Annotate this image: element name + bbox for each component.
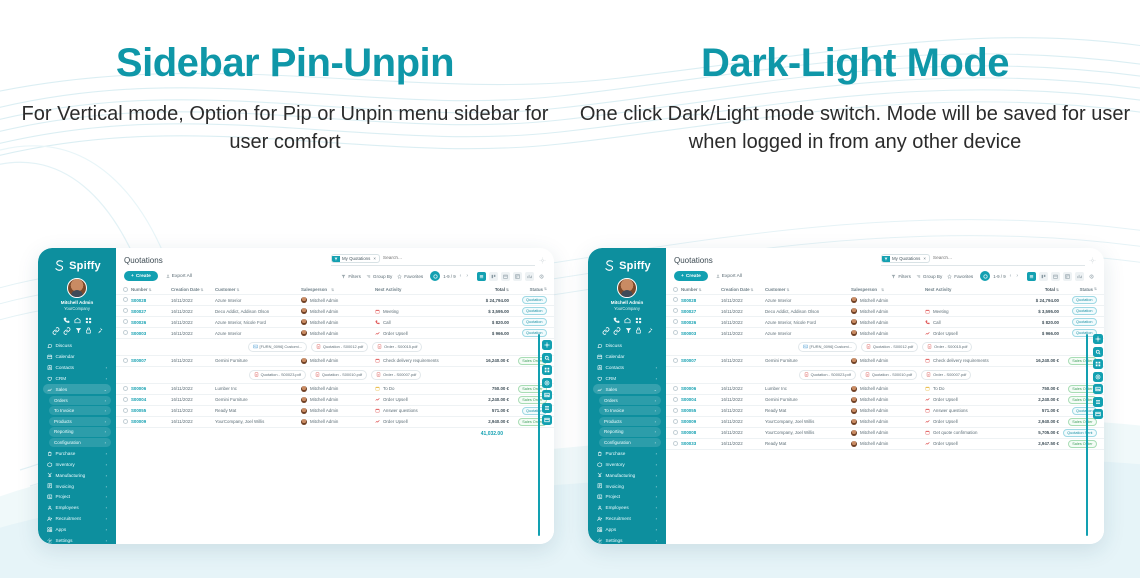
table-row[interactable]: S00003 16/11/2022 Azure Interior Mitchel… <box>666 328 1104 339</box>
table-row[interactable]: S00026 16/11/2022 Azure Interior, Nicole… <box>116 317 554 328</box>
cell-number[interactable]: S00003 <box>681 331 721 336</box>
cell-number[interactable]: S00028 <box>131 298 171 303</box>
sidebar-item-project[interactable]: Project › <box>43 492 111 502</box>
table-row[interactable]: S00026 16/11/2022 Azure Interior, Nicole… <box>666 317 1104 328</box>
image-icon[interactable] <box>542 390 552 400</box>
phone-icon[interactable] <box>613 317 620 324</box>
cell-total: 2,940.00 € <box>457 419 509 424</box>
sidebar-subitem-orders[interactable]: Orders › <box>49 396 111 405</box>
cell-salesperson: Mitchell Admin <box>851 430 925 436</box>
card-icon[interactable] <box>542 415 552 425</box>
cell-number[interactable]: S00007 <box>681 358 721 363</box>
group-by-button[interactable]: Group By <box>366 274 392 279</box>
table-row[interactable]: S00006 16/11/2022 Lumber Inc Mitchell Ad… <box>116 384 554 395</box>
pager-next-button[interactable]: › <box>465 273 469 279</box>
pdf-icon <box>377 344 382 349</box>
chevron-right-icon: › <box>656 538 657 543</box>
status-badge: Sales Order <box>1059 418 1097 426</box>
export-all-label: Export All <box>722 274 742 279</box>
sidebar-item-settings[interactable]: Settings › <box>593 535 661 544</box>
card-icon[interactable] <box>1093 409 1103 419</box>
cell-number[interactable]: S00055 <box>131 408 171 413</box>
table-row[interactable]: S00004 16/11/2022 Gemini Furniture Mitch… <box>116 395 554 406</box>
cell-creation-date: 16/11/2022 <box>171 309 215 314</box>
row-checkbox[interactable] <box>123 358 131 364</box>
table-row[interactable]: S00007 16/11/2022 Gemini Furniture Mitch… <box>116 356 554 367</box>
attachment-chip[interactable]: [FURN_0096] Customi... <box>798 342 857 352</box>
avatar <box>301 308 307 314</box>
sidebar-item-employees[interactable]: Employees › <box>593 503 661 513</box>
group-by-icon <box>366 274 371 279</box>
meeting-icon <box>925 309 930 314</box>
sidebar-item-manufacturing[interactable]: Manufacturing › <box>43 470 111 480</box>
cell-next-activity: Order Upsell <box>375 397 457 402</box>
cell-salesperson: Mitchell Admin <box>301 358 375 364</box>
group-by-button[interactable]: Group By <box>916 274 942 279</box>
search-icon[interactable] <box>1093 347 1103 357</box>
cell-number[interactable]: S00004 <box>681 397 721 402</box>
sidebar-item-settings[interactable]: Settings › <box>43 535 111 544</box>
settings-gear-icon[interactable] <box>542 340 552 350</box>
inventory-icon <box>597 462 603 468</box>
cell-number[interactable]: S00003 <box>131 331 171 336</box>
search-input[interactable] <box>933 256 1085 261</box>
export-all-button[interactable]: Export All <box>712 271 746 281</box>
confirm-icon <box>925 430 930 435</box>
table-row[interactable]: S00033 16/11/2022 Ready Mat Mitchell Adm… <box>666 439 1104 450</box>
column-header-creation-date: Creation Date⇅ <box>171 287 215 292</box>
sidebar-item-invoicing[interactable]: Invoicing › <box>593 481 661 491</box>
lock-icon[interactable] <box>635 327 642 334</box>
row-checkbox[interactable] <box>123 419 131 425</box>
avatar <box>851 308 857 314</box>
search-facet-label: My Quotations <box>340 255 373 262</box>
row-checkbox[interactable] <box>123 297 131 303</box>
cell-next-activity: Order Upsell <box>375 419 457 424</box>
sidebar-item-label: Discuss <box>606 343 655 348</box>
attachment-chip[interactable]: Order - S00007.pdf <box>921 370 971 380</box>
sidebar-item-project[interactable]: Project › <box>593 492 661 502</box>
cell-creation-date: 16/11/2022 <box>171 397 215 402</box>
sidebar-item-purchase[interactable]: Purchase › <box>43 448 111 458</box>
gear-icon[interactable] <box>539 257 546 264</box>
lock-icon[interactable] <box>85 327 92 334</box>
grid-icon[interactable] <box>635 317 642 324</box>
avatar <box>851 319 857 325</box>
chevron-right-icon: › <box>106 516 107 521</box>
sidebar-item-label: CRM <box>606 376 653 381</box>
cell-total: 2,240.00 € <box>1007 397 1059 402</box>
cell-number[interactable]: S00027 <box>681 309 721 314</box>
check-icon <box>925 358 930 363</box>
table-row[interactable]: S00006 16/11/2022 Lumber Inc Mitchell Ad… <box>666 384 1104 395</box>
sidebar-subitem-configuration[interactable]: Configuration › <box>49 438 111 447</box>
table-row[interactable]: S00027 16/11/2022 Deco Addict, Addison O… <box>116 306 554 317</box>
sidebar-item-crm[interactable]: CRM › <box>43 373 111 383</box>
avatar <box>301 408 307 414</box>
cell-number[interactable]: S00026 <box>131 320 171 325</box>
chevron-right-icon: › <box>656 462 657 467</box>
layout-grid-icon[interactable] <box>1093 359 1103 369</box>
row-checkbox[interactable] <box>123 408 131 414</box>
project-icon <box>597 494 603 500</box>
grid-icon[interactable] <box>85 317 92 324</box>
cell-salesperson: Mitchell Admin <box>851 408 925 414</box>
row-checkbox[interactable] <box>673 297 681 303</box>
attachment-chip[interactable]: Order - S00015.pdf <box>372 342 422 352</box>
sidebar-quick-icons-2 <box>38 327 116 335</box>
cell-number[interactable]: S00006 <box>131 386 171 391</box>
cell-number[interactable]: S00009 <box>681 419 721 424</box>
attachment-chip[interactable]: Quotation - S00012.pdf <box>311 342 368 352</box>
star-icon <box>397 274 402 279</box>
cell-total: $ 24,794.00 <box>1007 298 1059 303</box>
pin-icon[interactable] <box>646 327 653 334</box>
contacts-icon <box>597 365 603 371</box>
filter-icon[interactable] <box>75 327 82 334</box>
table-row[interactable]: S00004 16/11/2022 Gemini Furniture Mitch… <box>666 395 1104 406</box>
sidebar-item-label: CRM <box>56 376 103 381</box>
pager-value: 1-9 / 9 <box>993 274 1005 279</box>
sidebar-subitem-reporting[interactable]: Reporting › <box>49 427 111 436</box>
kanban-view-icon[interactable] <box>1039 272 1048 281</box>
sidebar-item-invoicing[interactable]: Invoicing › <box>43 481 111 491</box>
cell-creation-date: 16/11/2022 <box>721 397 765 402</box>
select-all-checkbox[interactable] <box>123 287 131 293</box>
chevron-right-icon: › <box>105 408 106 413</box>
list-icon[interactable] <box>1093 397 1103 407</box>
close-icon[interactable]: × <box>923 256 929 261</box>
pager-next-button[interactable]: › <box>1015 273 1019 279</box>
chevron-right-icon: › <box>106 462 107 467</box>
sidebar-item-discuss[interactable]: Discuss <box>593 341 661 351</box>
status-badge: Quotation <box>509 329 547 337</box>
attachment-chip[interactable]: Quotation - S00023.pdf <box>799 370 856 380</box>
table-header: Number⇅ Creation Date⇅ Customer⇅ Salespe… <box>116 285 554 295</box>
filters-button[interactable]: Filters <box>891 274 911 279</box>
row-checkbox[interactable] <box>123 319 131 325</box>
palette-icon[interactable] <box>1093 372 1103 382</box>
chevron-down-icon: ⌄ <box>104 387 107 392</box>
pager-prev-button[interactable]: ‹ <box>1009 273 1013 279</box>
avatar[interactable] <box>67 278 87 298</box>
kanban-view-icon[interactable] <box>489 272 498 281</box>
question-icon <box>375 408 380 413</box>
brand-logo[interactable]: Spiffy <box>588 259 666 272</box>
scrollbar[interactable] <box>538 334 540 536</box>
gear-icon[interactable] <box>1089 257 1096 264</box>
table-row[interactable]: S00028 16/11/2022 Azure Interior Mitchel… <box>666 295 1104 306</box>
list-view-icon[interactable] <box>477 272 486 281</box>
brand-name: Spiffy <box>69 260 101 272</box>
chevron-right-icon: › <box>655 398 656 403</box>
sidebar-item-manufacturing[interactable]: Manufacturing › <box>593 470 661 480</box>
row-checkbox[interactable] <box>673 319 681 325</box>
chevron-right-icon: › <box>106 376 107 381</box>
contacts-icon <box>47 365 53 371</box>
cell-creation-date: 16/11/2022 <box>171 386 215 391</box>
purchase-icon <box>597 451 603 457</box>
table-row[interactable]: S00027 16/11/2022 Deco Addict, Addison O… <box>666 306 1104 317</box>
avatar <box>851 297 857 303</box>
attachment-row: Quotation - S00023.pdfQuotation - S00010… <box>116 367 554 384</box>
graph-view-icon[interactable] <box>525 272 534 281</box>
table-row[interactable]: S00028 16/11/2022 Azure Interior Mitchel… <box>116 295 554 306</box>
pager-prev-button[interactable]: ‹ <box>459 273 463 279</box>
attachment-chip[interactable]: Quotation - S00010.pdf <box>860 370 917 380</box>
sidebar-item-label: Manufacturing <box>606 473 653 478</box>
image-icon <box>803 344 808 349</box>
cell-customer: Azure Interior <box>215 331 301 336</box>
chat-icon <box>47 343 53 349</box>
page-subtitle-left: For Vertical mode, Option for Pip or Unp… <box>0 100 570 157</box>
sum-total-value: 41,032.00 <box>481 431 547 437</box>
sidebar-item-label: Settings <box>606 538 653 543</box>
palette-icon[interactable] <box>542 378 552 388</box>
select-all-checkbox[interactable] <box>673 287 681 293</box>
sales-icon <box>597 387 603 393</box>
sales-icon <box>47 387 53 393</box>
cell-next-activity: Order Upsell <box>375 331 457 336</box>
filter-icon[interactable] <box>625 327 632 334</box>
table-row[interactable]: S00009 16/11/2022 YourCompany, Joel Will… <box>666 417 1104 428</box>
cell-number[interactable]: S00004 <box>131 397 171 402</box>
row-checkbox[interactable] <box>673 419 681 425</box>
calendar-view-icon[interactable] <box>1051 272 1060 281</box>
activity-view-icon[interactable] <box>537 272 546 281</box>
create-button[interactable]: + Create <box>674 271 708 281</box>
sidebar-item-label: Settings <box>56 538 103 543</box>
row-checkbox[interactable] <box>673 430 681 436</box>
create-button[interactable]: + Create <box>124 271 158 281</box>
filters-button[interactable]: Filters <box>341 274 361 279</box>
sidebar-item-contacts[interactable]: Contacts › <box>43 362 111 372</box>
table-row[interactable]: S00003 16/11/2022 Azure Interior Mitchel… <box>116 328 554 339</box>
link-alt-icon[interactable] <box>63 327 71 335</box>
home-icon[interactable] <box>624 317 631 324</box>
upsell-icon <box>925 397 930 402</box>
favorites-button[interactable]: Favorites <box>397 274 423 279</box>
chevron-right-icon: › <box>105 398 106 403</box>
cell-number[interactable]: S00007 <box>131 358 171 363</box>
row-checkbox[interactable] <box>123 308 131 314</box>
cell-total: $ 966.00 <box>457 331 509 336</box>
table-sum-row: 41,032.00 <box>116 428 554 440</box>
filters-label: Filters <box>348 274 361 279</box>
sidebar-item-inventory[interactable]: Inventory › <box>593 459 661 469</box>
sidebar-item-recruitment[interactable]: Recruitment › <box>593 514 661 524</box>
attachment-chip[interactable]: Quotation - S00023.pdf <box>249 370 306 380</box>
activity-view-icon[interactable] <box>1087 272 1096 281</box>
phone-icon[interactable] <box>63 317 70 324</box>
row-checkbox[interactable] <box>123 397 131 403</box>
sidebar-subitem-to-invoice[interactable]: To Invoice › <box>49 406 111 415</box>
cell-creation-date: 16/11/2022 <box>721 309 765 314</box>
cell-total: 16,240.00 € <box>457 358 509 363</box>
graph-view-icon[interactable] <box>1075 272 1084 281</box>
chevron-right-icon: › <box>655 419 656 424</box>
cell-customer: Deco Addict, Addison Olson <box>215 309 301 314</box>
cell-total: 2,947.50 € <box>1007 441 1059 446</box>
table-row[interactable]: S00055 16/11/2022 Ready Mat Mitchell Adm… <box>666 406 1104 417</box>
column-header-next-activity: Next Activity <box>925 287 1007 292</box>
status-badge: Quotation <box>509 307 547 315</box>
cell-number[interactable]: S00055 <box>681 408 721 413</box>
avatar <box>301 397 307 403</box>
sidebar-subitem-products[interactable]: Products › <box>49 417 111 426</box>
table-header: Number⇅ Creation Date⇅ Customer⇅ Salespe… <box>666 285 1104 295</box>
sidebar-subitem-label: Configuration <box>604 440 655 445</box>
pin-icon[interactable] <box>96 327 103 334</box>
cell-salesperson: Mitchell Admin <box>301 386 375 392</box>
settings-gear-icon[interactable] <box>1093 334 1103 344</box>
sidebar-subitem-to-invoice[interactable]: To Invoice › <box>599 406 661 415</box>
create-button-label: Create <box>686 274 701 279</box>
link-icon[interactable] <box>52 327 60 335</box>
cell-customer: YourCompany, Joel Willis <box>765 419 851 424</box>
page-title-right: Dark-Light Mode <box>570 42 1140 84</box>
sidebar-item-label: Discuss <box>56 343 105 348</box>
pager-icon <box>980 271 990 281</box>
sidebar-item-calendar[interactable]: Calendar <box>43 352 111 362</box>
pager[interactable]: 1-9 / 9 ‹ › <box>980 271 1019 281</box>
sidebar-item-purchase[interactable]: Purchase › <box>593 448 661 458</box>
cell-total: 571.00 € <box>457 408 509 413</box>
search-facet[interactable]: My Quotations × <box>881 254 930 263</box>
search-icon[interactable] <box>542 353 552 363</box>
sidebar-item-sales[interactable]: Sales ⌄ <box>43 384 111 394</box>
chevron-right-icon: › <box>656 484 657 489</box>
search-bar[interactable]: My Quotations × <box>881 254 1085 266</box>
sidebar-item-discuss[interactable]: Discuss <box>43 341 111 351</box>
cell-number[interactable]: S00033 <box>681 441 721 446</box>
upsell-icon <box>925 331 930 336</box>
attachment-chip[interactable]: [FURN_0096] Customi... <box>248 342 307 352</box>
cell-salesperson: Mitchell Admin <box>301 308 375 314</box>
link-icon[interactable] <box>602 327 610 335</box>
status-badge: Quotation <box>509 318 547 326</box>
sidebar: Spiffy Mitchell Admin YourCompany Discus… <box>588 248 666 544</box>
calendar-view-icon[interactable] <box>501 272 510 281</box>
row-checkbox[interactable] <box>673 308 681 314</box>
image-icon[interactable] <box>1093 384 1103 394</box>
row-checkbox[interactable] <box>673 386 681 392</box>
cell-salesperson: Mitchell Admin <box>301 397 375 403</box>
column-header-next-activity: Next Activity <box>375 287 457 292</box>
scrollbar[interactable] <box>1086 334 1088 536</box>
row-checkbox[interactable] <box>673 441 681 447</box>
sidebar-subitem-label: To Invoice <box>604 408 655 413</box>
view-title: Quotations <box>674 256 713 265</box>
filters-label: Filters <box>898 274 911 279</box>
search-bar[interactable]: My Quotations × <box>331 254 535 266</box>
cell-customer: Gemini Furniture <box>215 358 301 363</box>
chevron-right-icon: › <box>656 376 657 381</box>
search-facet-label: My Quotations <box>890 255 923 262</box>
cell-number[interactable]: S00028 <box>681 298 721 303</box>
row-checkbox[interactable] <box>673 330 681 336</box>
cell-salesperson: Mitchell Admin <box>851 308 925 314</box>
sidebar-subitem-configuration[interactable]: Configuration › <box>599 438 661 447</box>
attachment-chip[interactable]: Quotation - S00012.pdf <box>861 342 918 352</box>
export-all-button[interactable]: Export All <box>162 271 196 281</box>
cell-number[interactable]: S00009 <box>131 419 171 424</box>
table-row[interactable]: S00007 16/11/2022 Gemini Furniture Mitch… <box>666 356 1104 367</box>
sidebar-subitem-reporting[interactable]: Reporting › <box>599 427 661 436</box>
sidebar-item-label: Calendar <box>606 354 655 359</box>
attachment-chip[interactable]: Quotation - S00010.pdf <box>310 370 367 380</box>
cell-customer: YourCompany, Joel Willis <box>215 419 301 424</box>
status-badge: Sales Order <box>1059 396 1097 404</box>
layout-grid-icon[interactable] <box>542 365 552 375</box>
sidebar-item-label: Apps <box>56 527 103 532</box>
table-row[interactable]: S00009 16/11/2022 YourCompany, Joel Will… <box>116 417 554 428</box>
home-icon[interactable] <box>74 317 81 324</box>
cell-next-activity: Check delivery requirements <box>375 358 457 363</box>
avatar[interactable] <box>617 278 637 298</box>
sidebar-item-employees[interactable]: Employees › <box>43 503 111 513</box>
cell-number[interactable]: S00027 <box>131 309 171 314</box>
attachment-chip[interactable]: Order - S00015.pdf <box>922 342 972 352</box>
todo-icon <box>925 386 930 391</box>
close-icon[interactable]: × <box>373 256 379 261</box>
user-info: Mitchell Admin YourCompany <box>38 300 116 312</box>
cell-salesperson: Mitchell Admin <box>851 386 925 392</box>
cell-number[interactable]: S00006 <box>681 386 721 391</box>
meeting-icon <box>375 309 380 314</box>
pager[interactable]: 1-9 / 9 ‹ › <box>430 271 469 281</box>
chevron-right-icon: › <box>106 473 107 478</box>
cell-number[interactable]: S00026 <box>681 320 721 325</box>
link-alt-icon[interactable] <box>613 327 621 335</box>
list-icon[interactable] <box>542 403 552 413</box>
pivot-view-icon[interactable] <box>513 272 522 281</box>
brand-logo[interactable]: Spiffy <box>38 259 116 272</box>
row-checkbox[interactable] <box>673 408 681 414</box>
search-facet[interactable]: My Quotations × <box>331 254 380 263</box>
sidebar-subitem-orders[interactable]: Orders › <box>599 396 661 405</box>
row-checkbox[interactable] <box>673 397 681 403</box>
cell-number[interactable]: S00008 <box>681 430 721 435</box>
sidebar-item-sales[interactable]: Sales ⌄ <box>593 384 661 394</box>
table-row[interactable]: S00008 16/11/2022 YourCompany, Joel Will… <box>666 428 1104 439</box>
sidebar-item-crm[interactable]: CRM › <box>593 373 661 383</box>
sidebar-item-apps[interactable]: Apps › <box>43 525 111 535</box>
list-view-icon[interactable] <box>1027 272 1036 281</box>
search-input[interactable] <box>383 256 535 261</box>
cell-total: $ 820.00 <box>457 320 509 325</box>
row-checkbox[interactable] <box>123 386 131 392</box>
avatar <box>851 441 857 447</box>
row-checkbox[interactable] <box>123 330 131 336</box>
cell-salesperson: Mitchell Admin <box>851 330 925 336</box>
cell-salesperson: Mitchell Admin <box>301 297 375 303</box>
sidebar-item-apps[interactable]: Apps › <box>593 525 661 535</box>
sidebar-item-inventory[interactable]: Inventory › <box>43 459 111 469</box>
favorites-button[interactable]: Favorites <box>947 274 973 279</box>
table-row[interactable]: S00055 16/11/2022 Ready Mat Mitchell Adm… <box>116 406 554 417</box>
recruitment-icon <box>597 516 603 522</box>
sidebar-item-recruitment[interactable]: Recruitment › <box>43 514 111 524</box>
attachment-chip[interactable]: Order - S00007.pdf <box>371 370 421 380</box>
sidebar-subitem-products[interactable]: Products › <box>599 417 661 426</box>
sidebar-item-contacts[interactable]: Contacts › <box>593 362 661 372</box>
export-icon <box>166 274 170 278</box>
pivot-view-icon[interactable] <box>1063 272 1072 281</box>
sidebar-item-calendar[interactable]: Calendar <box>593 352 661 362</box>
row-checkbox[interactable] <box>673 358 681 364</box>
view-switcher <box>477 272 546 281</box>
